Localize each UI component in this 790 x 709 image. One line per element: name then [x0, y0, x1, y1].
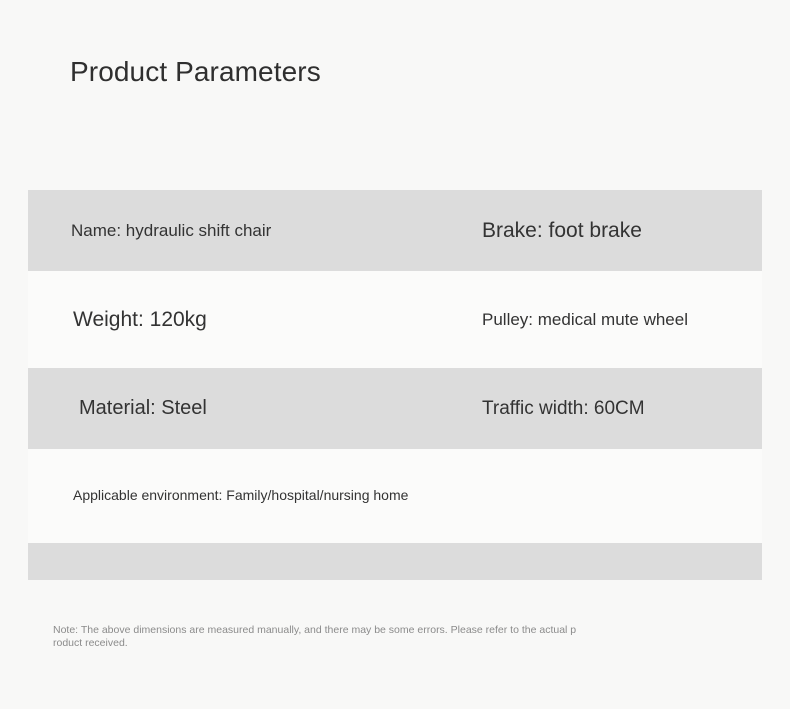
spec-cell-pulley: Pulley: medical mute wheel	[455, 310, 762, 330]
page-title-block: Product Parameters	[70, 54, 340, 90]
product-parameters-page: Product Parameters Name: hydraulic shift…	[0, 0, 790, 709]
spec-cell-name: Name: hydraulic shift chair	[28, 221, 455, 241]
table-row-empty	[28, 543, 762, 580]
table-row: Applicable environment: Family/hospital/…	[28, 449, 762, 543]
spec-value-name: Name: hydraulic shift chair	[28, 221, 271, 241]
page-title: Product Parameters	[70, 54, 340, 90]
table-row: Material: Steel Traffic width: 60CM	[28, 368, 762, 449]
specification-table: Name: hydraulic shift chair Brake: foot …	[28, 190, 762, 580]
spec-value-applicable-environment: Applicable environment: Family/hospital/…	[28, 487, 408, 503]
disclaimer-note: Note: The above dimensions are measured …	[53, 624, 578, 650]
spec-value-brake: Brake: foot brake	[455, 219, 642, 243]
spec-cell-empty-right-last	[455, 553, 762, 571]
spec-cell-material: Material: Steel	[28, 397, 455, 420]
table-row: Weight: 120kg Pulley: medical mute wheel	[28, 271, 762, 368]
table-row: Name: hydraulic shift chair Brake: foot …	[28, 190, 762, 271]
spec-cell-brake: Brake: foot brake	[455, 219, 762, 243]
spec-cell-empty-right	[455, 487, 762, 505]
spec-value-weight: Weight: 120kg	[28, 308, 207, 332]
spec-cell-traffic-width: Traffic width: 60CM	[455, 398, 762, 420]
spec-cell-empty-left-last	[28, 553, 455, 571]
spec-cell-applicable-environment: Applicable environment: Family/hospital/…	[28, 487, 455, 505]
spec-cell-weight: Weight: 120kg	[28, 308, 455, 332]
spec-value-pulley: Pulley: medical mute wheel	[455, 310, 688, 330]
spec-value-traffic-width: Traffic width: 60CM	[455, 398, 645, 420]
spec-value-material: Material: Steel	[28, 397, 207, 420]
